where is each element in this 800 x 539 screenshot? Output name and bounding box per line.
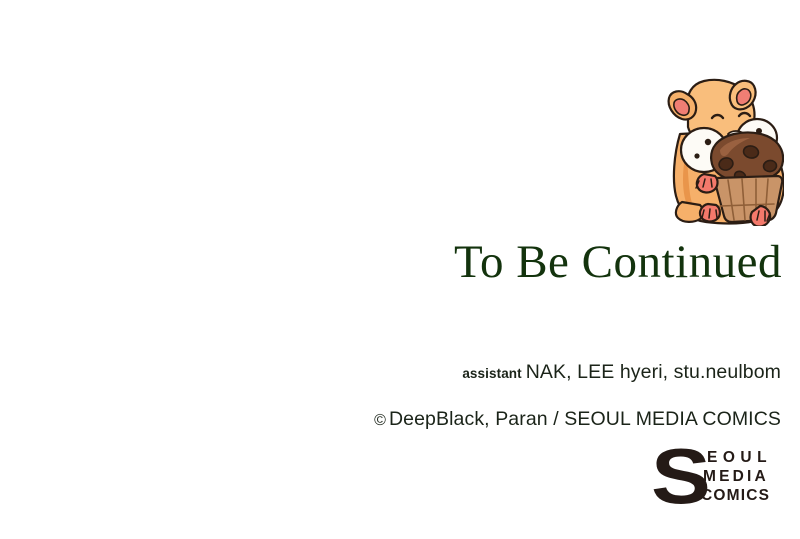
logo-wordmark: EOUL MEDIA COMICS: [701, 448, 772, 505]
credits-block: assistantNAK, LEE hyeri, stu.neulbom ©De…: [0, 357, 781, 436]
comic-end-page: To Be Continued assistantNAK, LEE hyeri,…: [0, 0, 800, 539]
seoul-media-comics-logo: S EOUL MEDIA COMICS: [651, 447, 782, 509]
logo-line-comics: COMICS: [701, 486, 772, 505]
hamster-with-muffin-illustration: [660, 78, 784, 226]
logo-line-media: MEDIA: [701, 467, 772, 486]
assistant-credit-line: assistantNAK, LEE hyeri, stu.neulbom: [0, 357, 781, 389]
copyright-credit-line: ©DeepBlack, Paran / SEOUL MEDIA COMICS: [0, 404, 781, 436]
copyright-symbol: ©: [374, 412, 389, 429]
assistant-role-label: assistant: [462, 366, 525, 381]
logo-line-eoul: EOUL: [701, 448, 772, 467]
copyright-text: DeepBlack, Paran / SEOUL MEDIA COMICS: [389, 408, 781, 430]
assistant-names: NAK, LEE hyeri, stu.neulbom: [526, 361, 781, 383]
to-be-continued-text: To Be Continued: [0, 235, 782, 289]
